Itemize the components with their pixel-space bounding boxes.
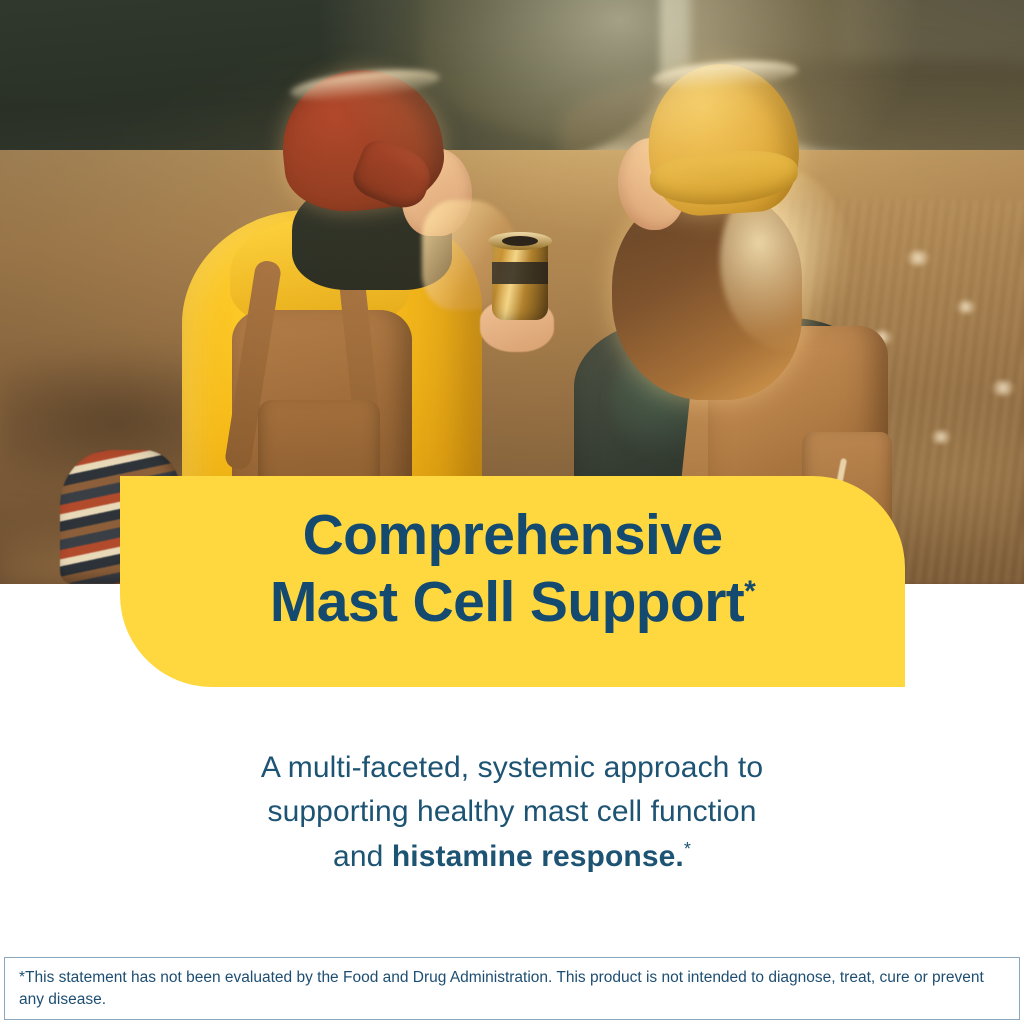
thermos-opening (502, 236, 538, 246)
marketing-poster: ComprehensiveMast Cell Support* A multi-… (0, 0, 1024, 1024)
thermos-band (492, 262, 548, 284)
reed-tuft-icon (930, 430, 952, 444)
body-line-3-prefix: and (333, 840, 392, 873)
headline-banner: ComprehensiveMast Cell Support* (120, 476, 905, 687)
fda-disclaimer-box: *This statement has not been evaluated b… (4, 957, 1020, 1020)
body-line-2: supporting healthy mast cell function (268, 795, 757, 828)
body-asterisk: * (684, 839, 691, 859)
disclaimer-line-1: *This statement has not been evaluated b… (19, 969, 747, 986)
body-line-1: A multi-faceted, systemic approach to (261, 751, 763, 784)
headline-line-2: Mast Cell Support (270, 570, 744, 634)
reed-tuft-icon (955, 300, 977, 314)
reed-tuft-icon (990, 380, 1016, 396)
body-copy: A multi-faceted, systemic approach to su… (60, 746, 964, 879)
body-line-3-bold: histamine response. (392, 840, 684, 873)
page-title: ComprehensiveMast Cell Support* (120, 502, 905, 637)
beanie-highlight (651, 57, 798, 93)
headline-line-1: Comprehensive (303, 503, 723, 567)
headline-asterisk: * (744, 575, 755, 608)
